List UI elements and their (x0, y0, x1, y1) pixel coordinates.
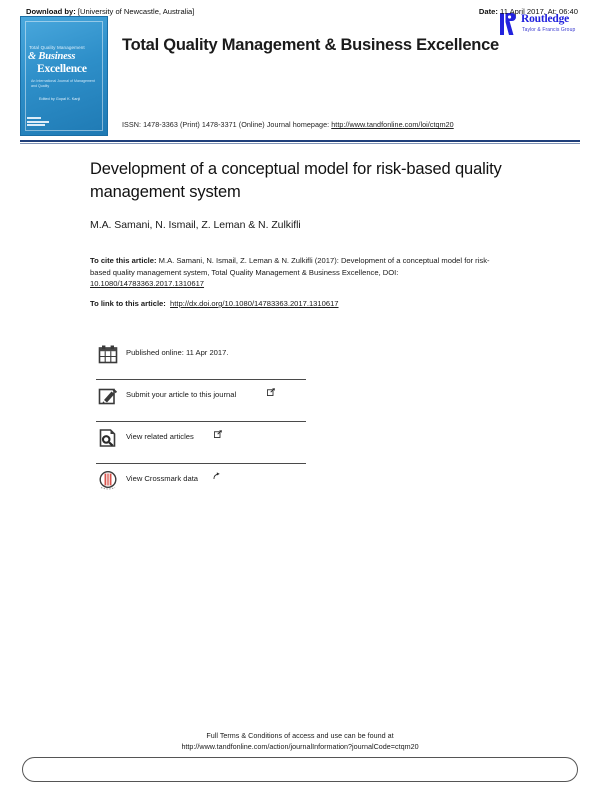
citation-lead: To cite this article: (90, 256, 157, 265)
external-link-icon (213, 472, 221, 480)
action-row-related-articles[interactable]: View related articles (96, 422, 308, 464)
download-date-lead: Date: (479, 7, 498, 16)
download-by-value: [University of Newcastle, Australia] (76, 7, 195, 16)
article-doi-url-link[interactable]: http://dx.doi.org/10.1080/14783363.2017.… (170, 299, 338, 308)
published-online-label: Published online: 11 Apr 2017. (126, 348, 228, 357)
download-info-bar (22, 757, 578, 782)
download-by: Download by: [University of Newcastle, A… (26, 7, 194, 16)
footer-terms-line-2: http://www.tandfonline.com/action/journa… (0, 741, 600, 752)
routledge-tagline: Taylor & Francis Group (522, 27, 575, 33)
routledge-r-icon (500, 13, 516, 35)
article-authors: M.A. Samani, N. Ismail, Z. Leman & N. Zu… (90, 219, 520, 231)
footer-terms-line-1: Full Terms & Conditions of access and us… (0, 730, 600, 741)
journal-cover-thumbnail[interactable]: Total Quality Management & Business Exce… (20, 16, 108, 136)
article-actions: Published online: 11 Apr 2017. Submit yo… (96, 338, 308, 506)
crossmark-icon (98, 470, 118, 490)
action-row-submit-article[interactable]: Submit your article to this journal (96, 380, 308, 422)
cover-title-line-2: Excellence (37, 63, 87, 75)
journal-homepage-link[interactable]: http://www.tandfonline.com/loi/ctqm20 (331, 120, 454, 129)
article-title: Development of a conceptual model for ri… (90, 158, 520, 204)
issn-homepage-line: ISSN: 1478-3363 (Print) 1478-3371 (Onlin… (122, 120, 454, 129)
submit-article-icon (98, 386, 118, 406)
header-divider (20, 140, 580, 142)
download-by-lead: Download by: (26, 7, 76, 16)
action-row-published-online: Published online: 11 Apr 2017. (96, 338, 308, 380)
cover-overline: Total Quality Management (29, 45, 93, 50)
header-divider-thin (20, 143, 580, 144)
related-articles-icon (98, 428, 118, 448)
action-row-crossmark[interactable]: View Crossmark data (96, 464, 308, 506)
download-date: Date: 11 April 2017, At: 06:40 (479, 7, 578, 16)
cover-editor: Edited by Gopal K. Kanji (39, 97, 80, 101)
citation-block: To cite this article: M.A. Samani, N. Is… (90, 255, 510, 290)
citation-doi-link[interactable]: 10.1080/14783363.2017.1310617 (90, 279, 204, 288)
routledge-colophon-icon (27, 117, 67, 129)
submit-article-label: Submit your article to this journal (126, 390, 236, 399)
download-date-value: 11 April 2017, At: 06:40 (498, 7, 578, 16)
journal-title: Total Quality Management & Business Exce… (122, 36, 499, 55)
page-header: Total Quality Management & Business Exce… (0, 0, 600, 140)
cover-inner-border (25, 21, 103, 131)
related-articles-label: View related articles (126, 432, 194, 441)
cover-subtitle: An International Journal of Management a… (31, 79, 97, 89)
footer-terms: Full Terms & Conditions of access and us… (0, 730, 600, 752)
cover-title-line-1: & Business (28, 51, 75, 62)
calendar-icon (98, 344, 118, 364)
external-link-icon (214, 430, 222, 438)
routledge-logo[interactable]: Routledge Taylor & Francis Group (496, 12, 592, 42)
external-link-icon (267, 388, 275, 396)
article-link-lead: To link to this article: (90, 299, 166, 308)
article-link-block: To link to this article: http://dx.doi.o… (90, 298, 510, 310)
issn-text: ISSN: 1478-3363 (Print) 1478-3371 (Onlin… (122, 120, 331, 129)
crossmark-label: View Crossmark data (126, 474, 198, 483)
